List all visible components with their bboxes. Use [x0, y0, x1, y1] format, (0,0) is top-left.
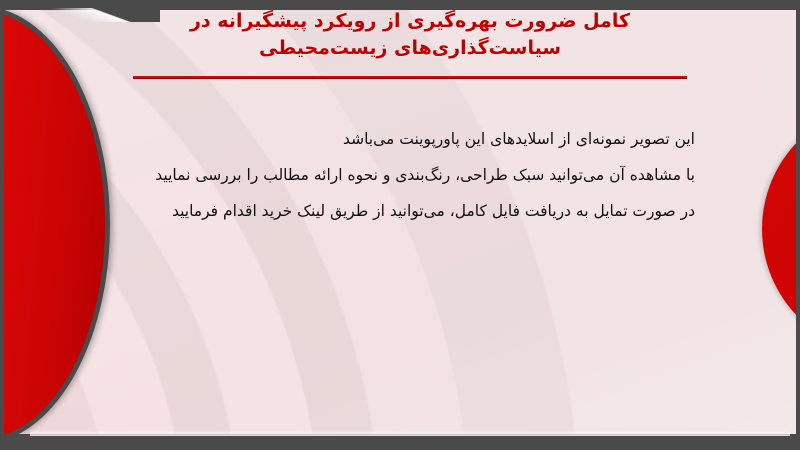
- frame-bar-bottom: [0, 434, 800, 450]
- corner-wedge-bottom: [30, 424, 790, 436]
- body-line-3: در صورت تمایل به دریافت فایل کامل، می‌تو…: [95, 194, 695, 230]
- slide-title-line-2: سیاست‌گذاری‌های زیست‌محیطی: [110, 35, 710, 62]
- frame-bar-left: [0, 0, 4, 450]
- presentation-slide: کامل ضرورت بهره‌گیری از رویکرد پیشگیرانه…: [0, 0, 800, 450]
- body-line-1: این تصویر نمونه‌ای از اسلایدهای این پاور…: [95, 122, 695, 158]
- body-line-2: با مشاهده آن می‌توانید سبک طراحی، رنگ‌بن…: [95, 158, 695, 194]
- frame-bar-right: [796, 0, 800, 450]
- slide-title-line-1: کامل ضرورت بهره‌گیری از رویکرد پیشگیرانه…: [110, 8, 710, 35]
- slide-body-text: این تصویر نمونه‌ای از اسلایدهای این پاور…: [95, 122, 695, 230]
- slide-title: کامل ضرورت بهره‌گیری از رویکرد پیشگیرانه…: [110, 8, 710, 62]
- title-underline-rule: [133, 76, 687, 79]
